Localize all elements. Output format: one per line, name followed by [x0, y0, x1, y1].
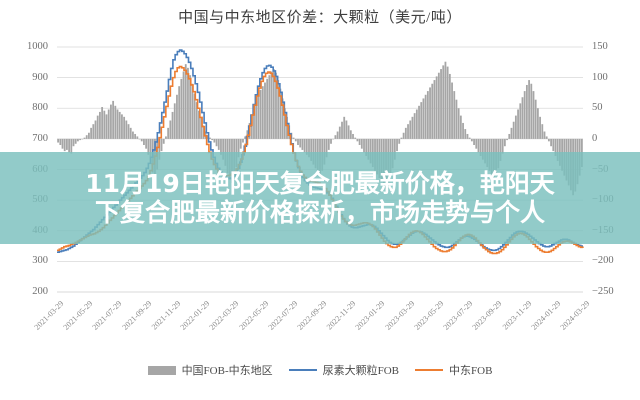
y-axis-right-tick: 50: [592, 103, 632, 114]
y-axis-left-tick: 800: [14, 103, 48, 114]
legend-swatch-line-icon: [415, 369, 443, 372]
legend-label: 中东FOB: [449, 362, 492, 378]
legend-label: 中国FOB-中东地区: [182, 362, 273, 378]
headline-line-2: 下复合肥最新价格探析，市场走势与个人: [95, 198, 545, 228]
y-axis-right-tick: 0: [592, 134, 632, 145]
y-axis-left-tick: 900: [14, 73, 48, 84]
y-axis-right-tick: −250: [592, 287, 632, 298]
y-axis-left-tick: 300: [14, 256, 48, 267]
legend-swatch-bar-icon: [148, 366, 176, 375]
chart-page: 中国与中东地区价差：大颗粒（美元/吨） 20030040050060070080…: [0, 0, 640, 400]
legend-item[interactable]: 尿素大颗粒FOB: [289, 362, 399, 378]
y-axis-left-tick: 200: [14, 287, 48, 298]
legend-swatch-line-icon: [289, 369, 317, 372]
headline-overlay-text: 11月19日艳阳天复合肥最新价格，艳阳天 下复合肥最新价格探析，市场走势与个人: [0, 152, 640, 244]
legend-item[interactable]: 中国FOB-中东地区: [148, 362, 273, 378]
y-axis-left-tick: 1000: [14, 42, 48, 53]
y-axis-left-tick: 700: [14, 134, 48, 145]
legend-label: 尿素大颗粒FOB: [323, 362, 399, 378]
y-axis-right-tick: 100: [592, 73, 632, 84]
y-axis-right-tick: 150: [592, 42, 632, 53]
chart-legend: 中国FOB-中东地区尿素大颗粒FOB中东FOB: [0, 362, 640, 378]
headline-line-1: 11月19日艳阳天复合肥最新价格，艳阳天: [85, 169, 555, 199]
y-axis-right-tick: −200: [592, 256, 632, 267]
legend-item[interactable]: 中东FOB: [415, 362, 492, 378]
